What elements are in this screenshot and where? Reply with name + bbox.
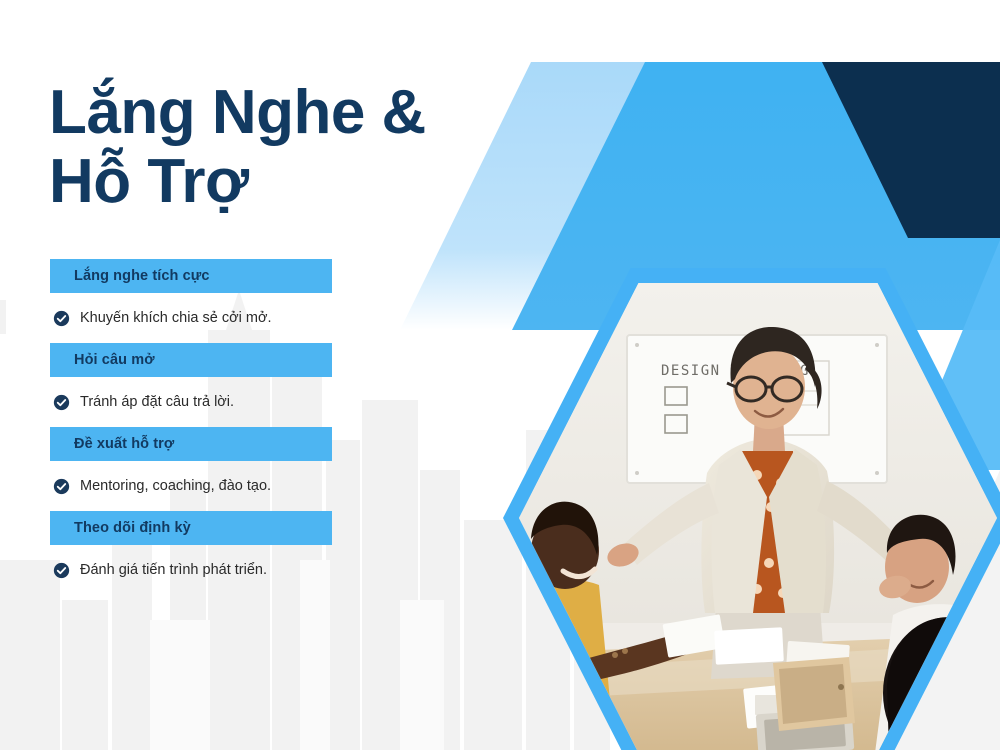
section-heading-label: Theo dõi định kỳ: [74, 520, 191, 536]
bullet-text: Khuyến khích chia sẻ cởi mở.: [80, 309, 272, 327]
section-heading-label: Đề xuất hỗ trợ: [74, 436, 174, 452]
title-line-2: Hỗ Trợ: [49, 147, 519, 216]
check-circle-icon: [53, 310, 70, 327]
section-heading-bar-1[interactable]: Lắng nghe tích cực: [50, 259, 332, 293]
bullet-row-3: Mentoring, coaching, đào tạo.: [50, 477, 340, 495]
bullet-row-2: Tránh áp đặt câu trả lời.: [50, 393, 340, 411]
check-circle-icon: [53, 478, 70, 495]
section-heading-bar-2[interactable]: Hỏi câu mở: [50, 343, 332, 377]
section-heading-bar-4[interactable]: Theo dõi định kỳ: [50, 511, 332, 545]
section-heading-label: Hỏi câu mở: [74, 352, 155, 368]
list-item: Theo dõi định kỳ Đánh giá tiến trình phá…: [50, 511, 340, 579]
check-circle-icon: [53, 394, 70, 411]
slide-canvas: DESIGN THINKING: [0, 0, 1000, 750]
page-title: Lắng Nghe & Hỗ Trợ: [49, 78, 519, 217]
content-list: Lắng nghe tích cực Khuyến khích chia sẻ …: [50, 259, 340, 596]
section-heading-label: Lắng nghe tích cực: [74, 268, 210, 284]
bullet-text: Đánh giá tiến trình phát triển.: [80, 561, 267, 579]
list-item: Lắng nghe tích cực Khuyến khích chia sẻ …: [50, 259, 340, 327]
check-circle-icon: [53, 562, 70, 579]
list-item: Hỏi câu mở Tránh áp đặt câu trả lời.: [50, 343, 340, 411]
bullet-text: Mentoring, coaching, đào tạo.: [80, 477, 271, 495]
list-item: Đề xuất hỗ trợ Mentoring, coaching, đào …: [50, 427, 340, 495]
bullet-row-1: Khuyến khích chia sẻ cởi mở.: [50, 309, 340, 327]
bullet-row-4: Đánh giá tiến trình phát triển.: [50, 561, 340, 579]
section-heading-bar-3[interactable]: Đề xuất hỗ trợ: [50, 427, 332, 461]
bullet-text: Tránh áp đặt câu trả lời.: [80, 393, 234, 411]
team-meeting-photo-frame: DESIGN THINKING: [503, 268, 1000, 750]
title-line-1: Lắng Nghe &: [49, 78, 426, 147]
